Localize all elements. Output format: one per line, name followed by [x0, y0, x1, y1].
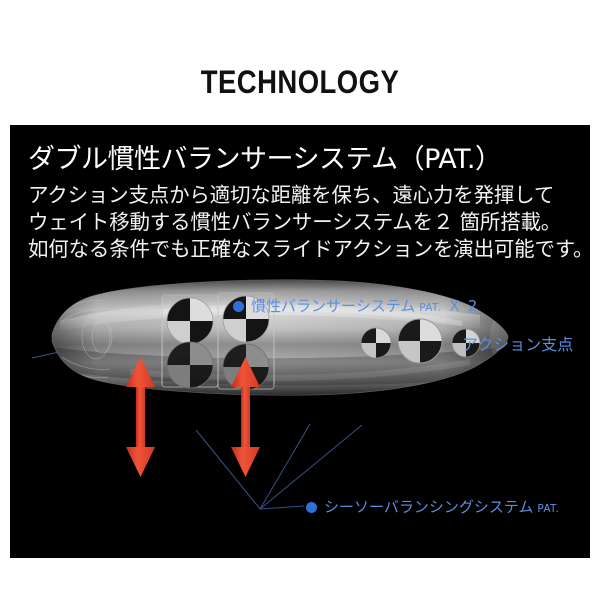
weight-ball — [167, 342, 213, 388]
technology-slide: TECHNOLOGY — [0, 0, 600, 600]
annotation-action-fulcrum: アクション支点 — [462, 331, 573, 355]
panel-body-line: 如何なる条件でも正確なスライドアクションを演出可能です。 — [28, 232, 590, 262]
action-fulcrum-port — [398, 319, 442, 363]
blue-bullet-icon — [233, 301, 244, 312]
page-title: TECHNOLOGY — [42, 64, 558, 101]
annotation-seesaw-balancing: シーソーバランシングシステム PAT. — [306, 496, 559, 517]
annotation-seesaw-label: シーソーバランシングシステム — [324, 496, 533, 517]
panel-heading: ダブル慣性バランサーシステム（PAT.） — [28, 137, 501, 176]
blue-bullet-icon — [306, 502, 317, 513]
annotation-seesaw-pat: PAT. — [537, 503, 559, 515]
weight-ball — [167, 298, 213, 344]
panel-body-line: ウェイト移動する慣性バランサーシステムを２ 箇所搭載。 — [28, 205, 561, 235]
annotation-inertia-balancer: 慣性バランサーシステム PAT. Ｘ 2 — [233, 295, 478, 316]
panel-body-line: アクション支点から適切な距離を保ち、遠心力を発揮して — [28, 178, 554, 208]
side-port — [361, 328, 391, 358]
lure-body — [40, 270, 522, 410]
annotation-inertia-pat: PAT. — [419, 302, 441, 314]
annotation-fulcrum-label: アクション支点 — [462, 331, 573, 355]
annotation-inertia-multiplier: Ｘ 2 — [447, 295, 478, 316]
content-panel: ダブル慣性バランサーシステム（PAT.） アクション支点から適切な距離を保ち、遠… — [10, 125, 590, 558]
annotation-inertia-label: 慣性バランサーシステム — [251, 295, 415, 316]
